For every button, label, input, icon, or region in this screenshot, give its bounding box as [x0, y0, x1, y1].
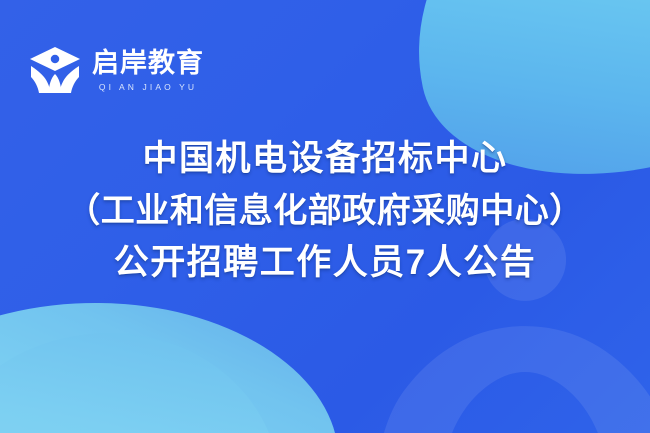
brand-wordmark: 启岸教育 QI AN JIAO YU [92, 47, 204, 92]
graduation-cap-person-icon [28, 44, 82, 94]
poster-canvas: 启岸教育 QI AN JIAO YU 中国机电设备招标中心 （工业和信息化部政府… [0, 0, 650, 433]
page-title: 中国机电设备招标中心 （工业和信息化部政府采购中心） 公开招聘工作人员7人公告 [0, 133, 650, 289]
brand-logo: 启岸教育 QI AN JIAO YU [28, 44, 204, 94]
title-line-3: 公开招聘工作人员7人公告 [14, 237, 636, 289]
title-line-1: 中国机电设备招标中心 [14, 133, 636, 185]
brand-name-pinyin: QI AN JIAO YU [99, 83, 197, 92]
brand-name-cn: 启岸教育 [92, 49, 204, 77]
title-line-2: （工业和信息化部政府采购中心） [14, 185, 636, 237]
